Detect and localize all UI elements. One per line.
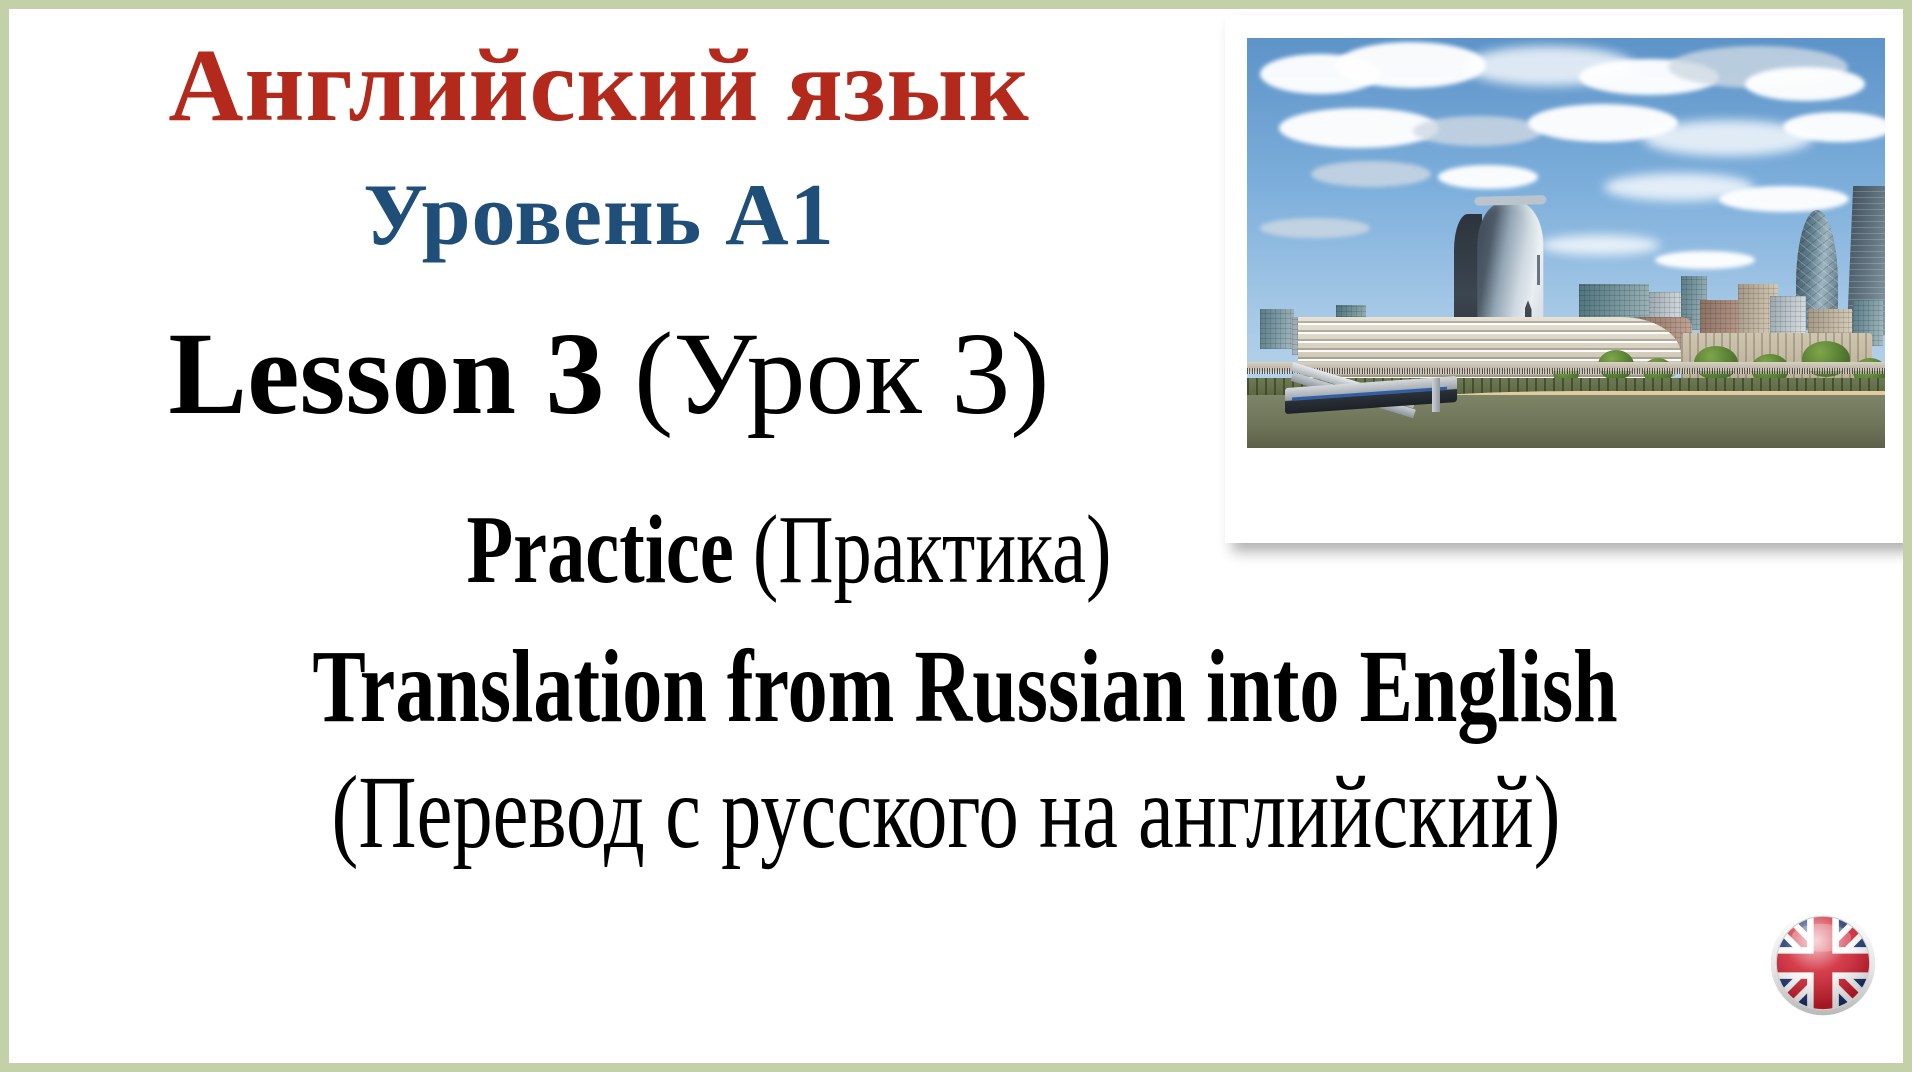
lesson-heading-ru: (Урок 3) xyxy=(604,308,1049,439)
london-photo-card xyxy=(1225,15,1907,543)
cloud-icon xyxy=(1413,116,1543,146)
section-heading-practice-ru: (Практика) xyxy=(734,496,1112,604)
task-title-en: Translation from Russian into English xyxy=(26,635,1905,739)
section-heading-practice-en: Practice xyxy=(466,496,733,604)
task-title-ru: (Перевод с русского на английский) xyxy=(0,761,1903,865)
page-title-subject: Английский язык xyxy=(9,31,1189,141)
lesson-heading-en: Lesson 3 xyxy=(168,308,604,439)
uk-flag-icon xyxy=(1767,907,1879,1019)
london-skyline-photo xyxy=(1247,38,1885,448)
lesson-heading: Lesson 3 (Урок 3) xyxy=(9,311,1209,436)
page-subtitle-level: Уровень A1 xyxy=(9,169,1189,262)
mooring-post xyxy=(1432,378,1440,412)
crowd-of-people xyxy=(1247,368,1885,374)
antenna-mast xyxy=(1537,255,1540,285)
section-heading-practice: Practice (Практика) xyxy=(181,501,1398,599)
cloud-icon xyxy=(1311,161,1431,187)
cloud-icon xyxy=(1719,186,1849,212)
building-block xyxy=(1260,309,1294,349)
cloud-icon xyxy=(1540,235,1660,255)
cloud-icon xyxy=(1745,67,1865,101)
lesson-slide: Английский язык Уровень A1 Lesson 3 (Уро… xyxy=(0,0,1912,1072)
cloud-icon xyxy=(1783,112,1885,142)
